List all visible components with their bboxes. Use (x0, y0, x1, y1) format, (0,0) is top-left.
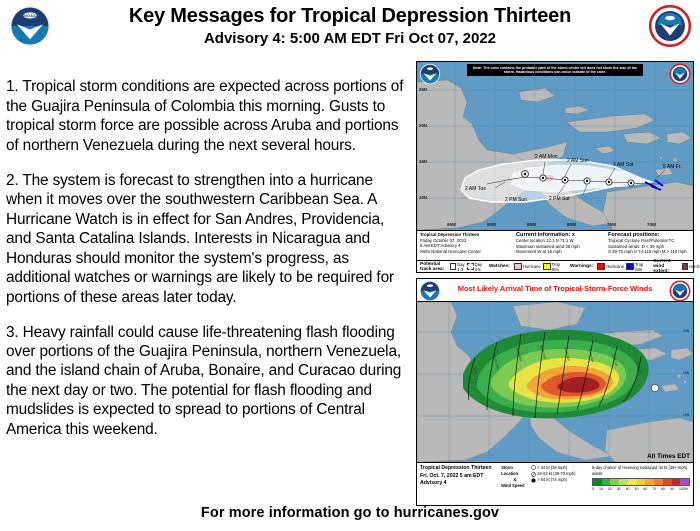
track-label-2pm-sun: 2 PM Sun (505, 197, 527, 203)
track-label-2am-mon: 2 AM Mon (535, 154, 558, 160)
noaa-logo-small (419, 63, 441, 85)
storm-location-legend: Storm Location & Wind Speed < 34 kt (39 … (498, 463, 589, 505)
cone-info-bar: Tropical Depression Thirteen Friday Octo… (417, 230, 693, 260)
colorbar-title: 5-day chance of receiving sustained 34 k… (592, 465, 690, 477)
swatch-warn-tropstm (626, 263, 634, 270)
key-message-3: 3. Heavy rainfall could cause life-threa… (6, 323, 406, 440)
svg-text:20N: 20N (683, 329, 690, 333)
legend-watches: Watches: Hurricane Trop Stm (489, 261, 564, 272)
cone-lat-25n: 25N (419, 87, 427, 92)
key-messages-list: 1. Tropical storm conditions are expecte… (6, 62, 406, 453)
tick-100: 100% (679, 487, 688, 491)
tick-30: 30 (617, 487, 621, 491)
legend-day13: Day 1-3 (457, 262, 465, 272)
track-label-2am-sat: 2 AM Sat (613, 162, 633, 168)
svg-text:15N: 15N (683, 371, 690, 375)
swatch-watch-tropstm (543, 263, 551, 270)
legend-watches-title: Watches: (489, 264, 510, 269)
noaa-logo-small-2 (419, 280, 441, 302)
cone-map[interactable]: Note: The cone contains the probable pat… (417, 62, 693, 230)
arrival-date: Fri. Oct. 7, 2022 5 am EDT (420, 473, 495, 481)
legend-track-title: Potential track area: (420, 262, 446, 272)
tick-60: 60 (643, 487, 647, 491)
page-title: Key Messages for Tropical Depression Thi… (60, 5, 640, 28)
arrival-storm-name: Tropical Depression Thirteen (420, 465, 495, 473)
arrival-storm-info: Tropical Depression Thirteen Fri. Oct. 7… (417, 463, 498, 505)
swatch-warn-hurricane (597, 263, 605, 270)
cone-lon-90w: 90W (487, 222, 496, 227)
nhc-logo-small-2 (669, 280, 691, 302)
cone-storm-info: Tropical Depression Thirteen Friday Octo… (417, 231, 513, 260)
svg-text:NOAA: NOAA (24, 13, 36, 18)
arrival-header: Most Likely Arrival Time of Tropical-Sto… (417, 279, 693, 301)
noaa-logo: NOAA (8, 4, 52, 48)
cone-lat-10n: 10N (419, 195, 427, 200)
colorbar-ticks: 5 10 20 30 40 50 60 70 80 90 100% (592, 487, 688, 491)
legend-watch-hurricane: Hurricane (523, 264, 541, 269)
tick-5: 5 (592, 487, 594, 491)
arrival-map-graphic: 8 PM Fri 8 AM Sat 8 PM Sat 8 AM Sun 8 PM… (417, 302, 693, 462)
speed-item-3: > 64 kt (74 mph) (531, 477, 586, 483)
legend-wind-extent: Current wind extent: Hurricane Trop Stm (653, 261, 700, 272)
track-label-2pm-sat: 2 PM Sat (549, 196, 570, 202)
cone-note: Note: The cone contains the probable pat… (467, 64, 643, 76)
tick-40: 40 (626, 487, 630, 491)
track-label-2am-tue: 2 AM Tue (465, 186, 486, 192)
all-times-label: All Times EDT (647, 453, 690, 460)
cone-map-graphic (417, 62, 693, 230)
legend-track-area: Potential track area: Day 1-3 Day 4-5 (417, 261, 483, 272)
legend-watch-tropstm: Trop Stm (552, 262, 564, 272)
tick-20: 20 (608, 487, 612, 491)
tick-10: 10 (599, 487, 603, 491)
track-label-2am-sun: 2 AM Sun (567, 158, 589, 164)
storm-location-title: Storm Location (501, 465, 529, 477)
probability-colorbar (592, 478, 690, 486)
swatch-day45 (467, 263, 473, 270)
legend-warn-tropstm: Trop Stm (635, 262, 647, 272)
probability-colorbar-block: 5-day chance of receiving sustained 34 k… (589, 463, 693, 505)
hurricane-symbol-icon (531, 478, 536, 483)
legend-day45: Day 4-5 (475, 262, 483, 272)
legend-ext-hurricane: Hurricane (689, 264, 700, 269)
forecast-cone-panel: Note: The cone contains the probable pat… (416, 61, 694, 273)
current-movement: Movement W at 15 mph (516, 249, 602, 255)
legend-warn-hurricane: Hurricane (606, 264, 624, 269)
key-message-1: 1. Tropical storm conditions are expecte… (6, 77, 406, 155)
arrival-title: Most Likely Arrival Time of Tropical-Sto… (445, 284, 665, 293)
title-block: Key Messages for Tropical Depression Thi… (60, 5, 640, 47)
page-header: NOAA Key Messages for Tropical Depressio… (0, 0, 700, 56)
legend-warnings: Warnings: Hurricane Trop Stm (570, 261, 647, 272)
cone-agency: NWS National Hurricane Center (420, 249, 510, 255)
advisory-subtitle: Advisory 4: 5:00 AM EDT Fri Oct 07, 2022 (60, 30, 640, 47)
ts-symbol-icon (531, 472, 536, 477)
cone-legend-bar: Potential track area: Day 1-3 Day 4-5 Wa… (417, 260, 693, 272)
tick-90: 90 (670, 487, 674, 491)
tick-50: 50 (635, 487, 639, 491)
cone-lat-15n: 15N (419, 159, 427, 164)
td-symbol-icon (531, 465, 536, 470)
nhc-logo-small (669, 63, 691, 85)
arrival-info-bar: Tropical Depression Thirteen Fri. Oct. 7… (417, 463, 693, 505)
track-label-5am-fri: 5 AM Fri (663, 164, 682, 170)
tick-70: 70 (652, 487, 656, 491)
forecast-positions-block: Forecast positions: Tropical Cyclone Pos… (605, 231, 693, 260)
key-message-2: 2. The system is forecast to strengthen … (6, 171, 406, 307)
legend-wind-title: Current wind extent: (653, 259, 677, 274)
svg-text:10N: 10N (683, 413, 690, 417)
wind-speed-title: Wind Speed (501, 483, 529, 489)
swatch-day13 (450, 263, 456, 270)
cone-lon-70w: 70W (647, 222, 656, 227)
forecast-wind-categories: S 39-73 mph H 74-110 mph M > 110 mph (608, 249, 690, 255)
current-information-block: Current information: x Center location 1… (513, 231, 605, 260)
arrival-advisory: Advisory 4 (420, 480, 495, 488)
cone-lat-20n: 20N (419, 123, 427, 128)
swatch-ext-hurricane (682, 263, 688, 270)
legend-warnings-title: Warnings: (570, 264, 593, 269)
footer-info: For more information go to hurricanes.go… (0, 505, 700, 521)
cone-lon-75w: 75W (607, 222, 616, 227)
arrival-time-panel: Most Likely Arrival Time of Tropical-Sto… (416, 278, 694, 506)
swatch-watch-hurricane (514, 263, 522, 270)
tick-80: 80 (661, 487, 665, 491)
arrival-map[interactable]: 8 PM Fri 8 AM Sat 8 PM Sat 8 AM Sun 8 PM… (417, 301, 693, 463)
cone-lon-80w: 80W (567, 222, 576, 227)
cone-lon-85w: 85W (527, 222, 536, 227)
cone-lon-95w: 95W (447, 222, 456, 227)
nhc-logo (648, 4, 692, 48)
